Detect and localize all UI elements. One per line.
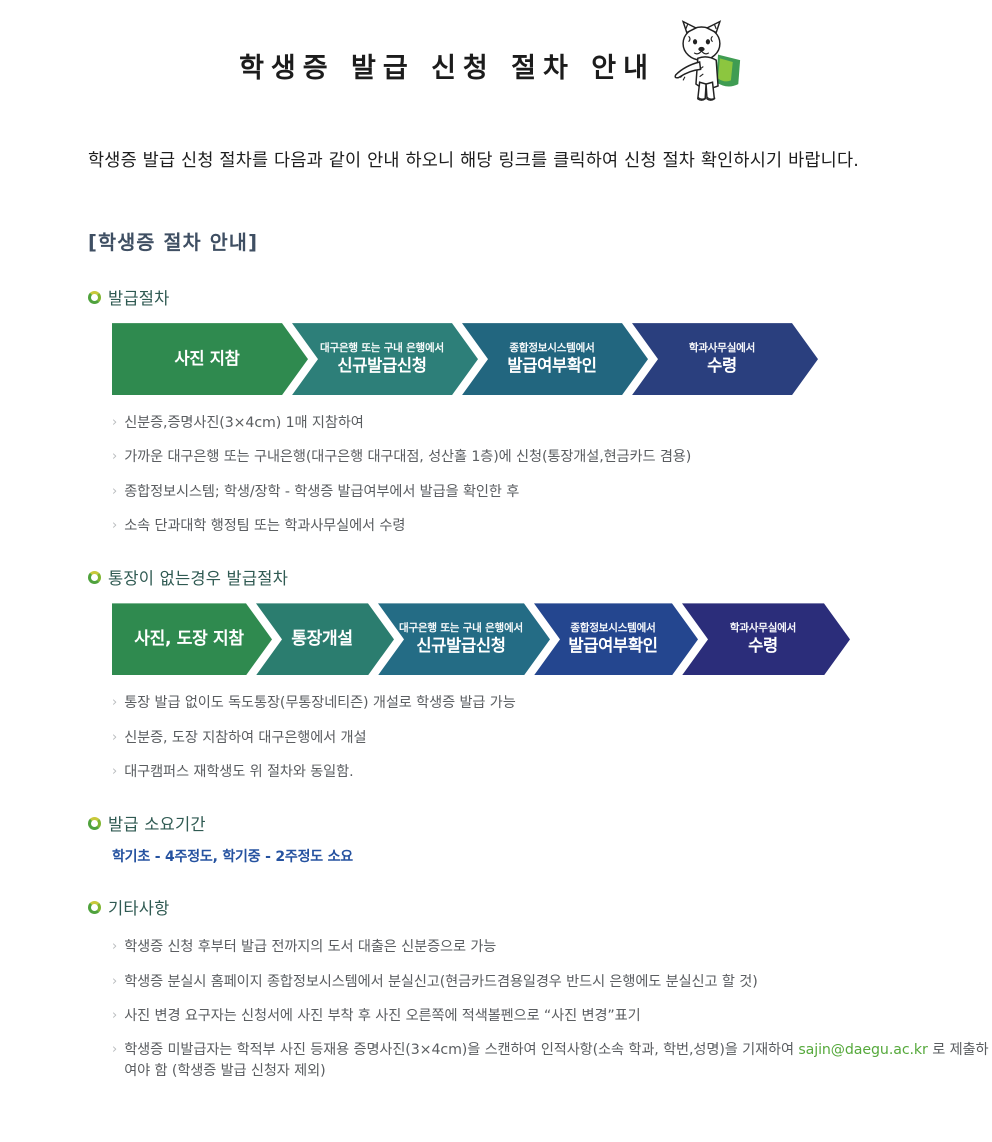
list-item-text: 신분증,증명사진(3×4cm) 1매 지참하여 — [124, 413, 364, 434]
ring-bullet-icon — [88, 291, 101, 304]
list-item-text: 학생증 분실시 홈페이지 종합정보시스템에서 분실신고(현금카드겸용일경우 반드… — [124, 972, 757, 993]
list-item-text: 대구캠퍼스 재학생도 위 절차와 동일함. — [124, 762, 353, 783]
flow-step: 종합정보시스템에서 발급여부확인 — [462, 323, 648, 395]
page-title: 학생증 발급 신청 절차 안내 — [239, 46, 655, 85]
flow-step-sub: 대구은행 또는 구내 은행에서 — [320, 342, 444, 355]
list-item-text: 종합정보시스템; 학생/장학 - 학생증 발급여부에서 발급을 확인한 후 — [124, 482, 519, 503]
duration-value: 학기초 - 4주정도, 학기중 - 2주정도 소요 — [112, 846, 992, 866]
flow-step-main: 사진 지참 — [175, 348, 240, 369]
document-header: 학생증 발급 신청 절차 안내 — [0, 0, 992, 100]
list-item: ›학생증 미발급자는 학적부 사진 등재용 증명사진(3×4cm)을 스캔하여 … — [112, 1040, 992, 1083]
flow-step: 대구은행 또는 구내 은행에서 신규발급신청 — [292, 323, 478, 395]
section-title-issuance-procedure: 발급절차 — [108, 285, 170, 309]
flow-step-sub: 학과사무실에서 — [689, 342, 755, 355]
flow-step: 종합정보시스템에서 발급여부확인 — [534, 603, 698, 675]
chevron-right-icon: › — [112, 762, 117, 782]
flow-step-main: 신규발급신청 — [337, 355, 426, 376]
list-item: ›종합정보시스템; 학생/장학 - 학생증 발급여부에서 발급을 확인한 후 — [112, 482, 992, 503]
chevron-right-icon: › — [112, 1040, 117, 1060]
list-item: ›학생증 분실시 홈페이지 종합정보시스템에서 분실신고(현금카드겸용일경우 반… — [112, 972, 992, 993]
list-item: ›통장 발급 없이도 독도통장(무통장네티즌) 개설로 학생증 발급 가능 — [112, 693, 992, 714]
flow-step-sub: 학과사무실에서 — [730, 622, 796, 635]
list-item-text: 소속 단과대학 행정팀 또는 학과사무실에서 수령 — [124, 516, 405, 537]
flow-step: 대구은행 또는 구내 은행에서 신규발급신청 — [378, 603, 550, 675]
list-item-text: 가까운 대구은행 또는 구내은행(대구은행 대구대점, 성산홀 1층)에 신청(… — [124, 447, 691, 468]
bullet-list-no-bankbook: ›통장 발급 없이도 독도통장(무통장네티즌) 개설로 학생증 발급 가능 ›신… — [112, 693, 992, 783]
list-item-text-before: 학생증 미발급자는 학적부 사진 등재용 증명사진(3×4cm)을 스캔하여 인… — [124, 1042, 798, 1058]
list-item: ›신분증,증명사진(3×4cm) 1매 지참하여 — [112, 413, 992, 434]
list-item: ›사진 변경 요구자는 신청서에 사진 부착 후 사진 오른쪽에 적색볼펜으로 … — [112, 1006, 992, 1027]
flow-step: 학과사무실에서 수령 — [682, 603, 850, 675]
flow-step-sub: 종합정보시스템에서 — [570, 622, 655, 635]
chevron-right-icon: › — [112, 482, 117, 502]
process-flow-issuance: 사진 지참 대구은행 또는 구내 은행에서 신규발급신청 종합정보시스템에서 발… — [112, 323, 992, 395]
section-title-duration: 발급 소요기간 — [108, 811, 206, 835]
email-link[interactable]: sajin@daegu.ac.kr — [798, 1042, 927, 1058]
list-item-text: 통장 발급 없이도 독도통장(무통장네티즌) 개설로 학생증 발급 가능 — [124, 693, 515, 714]
ring-bullet-icon — [88, 817, 101, 830]
bullet-list-other: ›학생증 신청 후부터 발급 전까지의 도서 대출은 신분증으로 가능 ›학생증… — [112, 937, 992, 1082]
section-title-other: 기타사항 — [108, 895, 170, 919]
white-tiger-mascot-icon — [661, 16, 753, 108]
list-item-text: 신분증, 도장 지참하여 대구은행에서 개설 — [124, 728, 366, 749]
flow-step-main: 사진, 도장 지참 — [134, 628, 243, 650]
section-header-other: 기타사항 — [88, 895, 992, 919]
list-item: ›가까운 대구은행 또는 구내은행(대구은행 대구대점, 성산홀 1층)에 신청… — [112, 447, 992, 468]
ring-bullet-icon — [88, 571, 101, 584]
chevron-right-icon: › — [112, 413, 117, 433]
intro-text: 학생증 발급 신청 절차를 다음과 같이 안내 하오니 해당 링크를 클릭하여 … — [88, 151, 859, 171]
ring-bullet-icon — [88, 901, 101, 914]
list-item: ›대구캠퍼스 재학생도 위 절차와 동일함. — [112, 762, 992, 783]
section-header-issuance-procedure: 발급절차 — [88, 285, 992, 309]
list-item: ›신분증, 도장 지참하여 대구은행에서 개설 — [112, 728, 992, 749]
list-item-text: 사진 변경 요구자는 신청서에 사진 부착 후 사진 오른쪽에 적색볼펜으로 “… — [124, 1006, 640, 1027]
process-flow-no-bankbook: 사진, 도장 지참 통장개설 대구은행 또는 구내 은행에서 신규발급신청 종합… — [112, 603, 992, 675]
flow-step: 통장개설 — [256, 603, 394, 675]
intro-paragraph: 학생증 발급 신청 절차를 다음과 같이 안내 하오니 해당 링크를 클릭하여 … — [62, 144, 937, 178]
chevron-right-icon: › — [112, 972, 117, 992]
bullet-list-issuance: ›신분증,증명사진(3×4cm) 1매 지참하여 ›가까운 대구은행 또는 구내… — [112, 413, 992, 537]
flow-step-main: 수령 — [707, 355, 737, 376]
chevron-right-icon: › — [112, 937, 117, 957]
chevron-right-icon: › — [112, 447, 117, 467]
procedure-guide-heading: [학생증 절차 안내] — [88, 226, 992, 255]
chevron-right-icon: › — [112, 1006, 117, 1026]
section-header-no-bankbook: 통장이 없는경우 발급절차 — [88, 565, 992, 589]
list-item-text: 학생증 신청 후부터 발급 전까지의 도서 대출은 신분증으로 가능 — [124, 937, 496, 958]
list-item-text-with-email: 학생증 미발급자는 학적부 사진 등재용 증명사진(3×4cm)을 스캔하여 인… — [124, 1040, 992, 1083]
flow-step-main: 발급여부확인 — [507, 355, 596, 376]
chevron-right-icon: › — [112, 516, 117, 536]
list-item: ›소속 단과대학 행정팀 또는 학과사무실에서 수령 — [112, 516, 992, 537]
flow-step-main: 수령 — [748, 635, 778, 656]
flow-step: 사진 지참 — [112, 323, 308, 395]
flow-step-main: 신규발급신청 — [416, 635, 505, 656]
chevron-right-icon: › — [112, 693, 117, 713]
flow-step-main: 통장개설 — [291, 628, 352, 650]
list-item: ›학생증 신청 후부터 발급 전까지의 도서 대출은 신분증으로 가능 — [112, 937, 992, 958]
flow-step-sub: 대구은행 또는 구내 은행에서 — [399, 622, 523, 635]
chevron-right-icon: › — [112, 728, 117, 748]
section-header-duration: 발급 소요기간 — [88, 811, 992, 835]
flow-step-main: 발급여부확인 — [568, 635, 657, 656]
flow-step-sub: 종합정보시스템에서 — [509, 342, 594, 355]
flow-step: 사진, 도장 지참 — [112, 603, 272, 675]
flow-step: 학과사무실에서 수령 — [632, 323, 818, 395]
section-title-no-bankbook: 통장이 없는경우 발급절차 — [108, 565, 288, 589]
